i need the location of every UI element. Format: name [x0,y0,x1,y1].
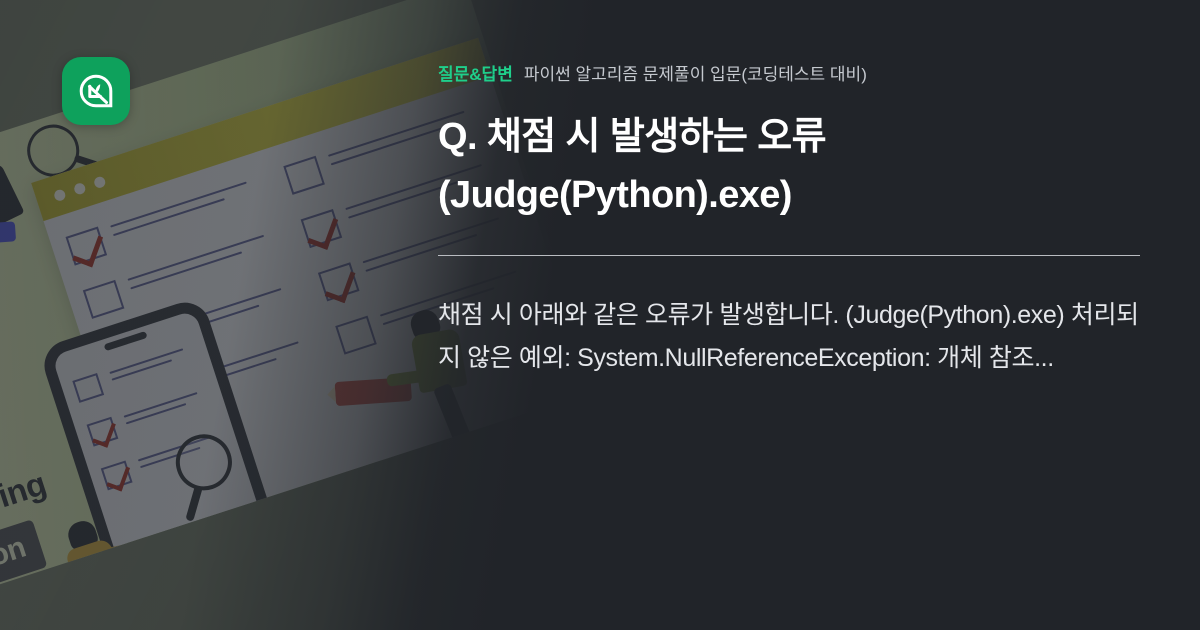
course-title: 파이썬 알고리즘 문제풀이 입문(코딩테스트 대비) [524,60,867,85]
content-panel: 질문&답변 파이썬 알고리즘 문제풀이 입문(코딩테스트 대비) Q. 채점 시… [438,0,1144,630]
page-title: Q. 채점 시 발생하는 오류 (Judge(Python).exe) [438,109,1142,225]
category-badge: 질문&답변 [438,60,513,85]
inflearn-leaf-logo-icon [76,71,116,111]
inflearn-logo[interactable] [62,57,130,125]
breadcrumb: 질문&답변 파이썬 알고리즘 문제풀이 입문(코딩테스트 대비) [438,60,1144,85]
divider [438,255,1140,256]
og-share-card: gorithm oblem solving with Python 질문&답변 … [0,0,1200,630]
question-excerpt: 채점 시 아래와 같은 오류가 발생합니다. (Judge(Python).ex… [438,294,1144,380]
